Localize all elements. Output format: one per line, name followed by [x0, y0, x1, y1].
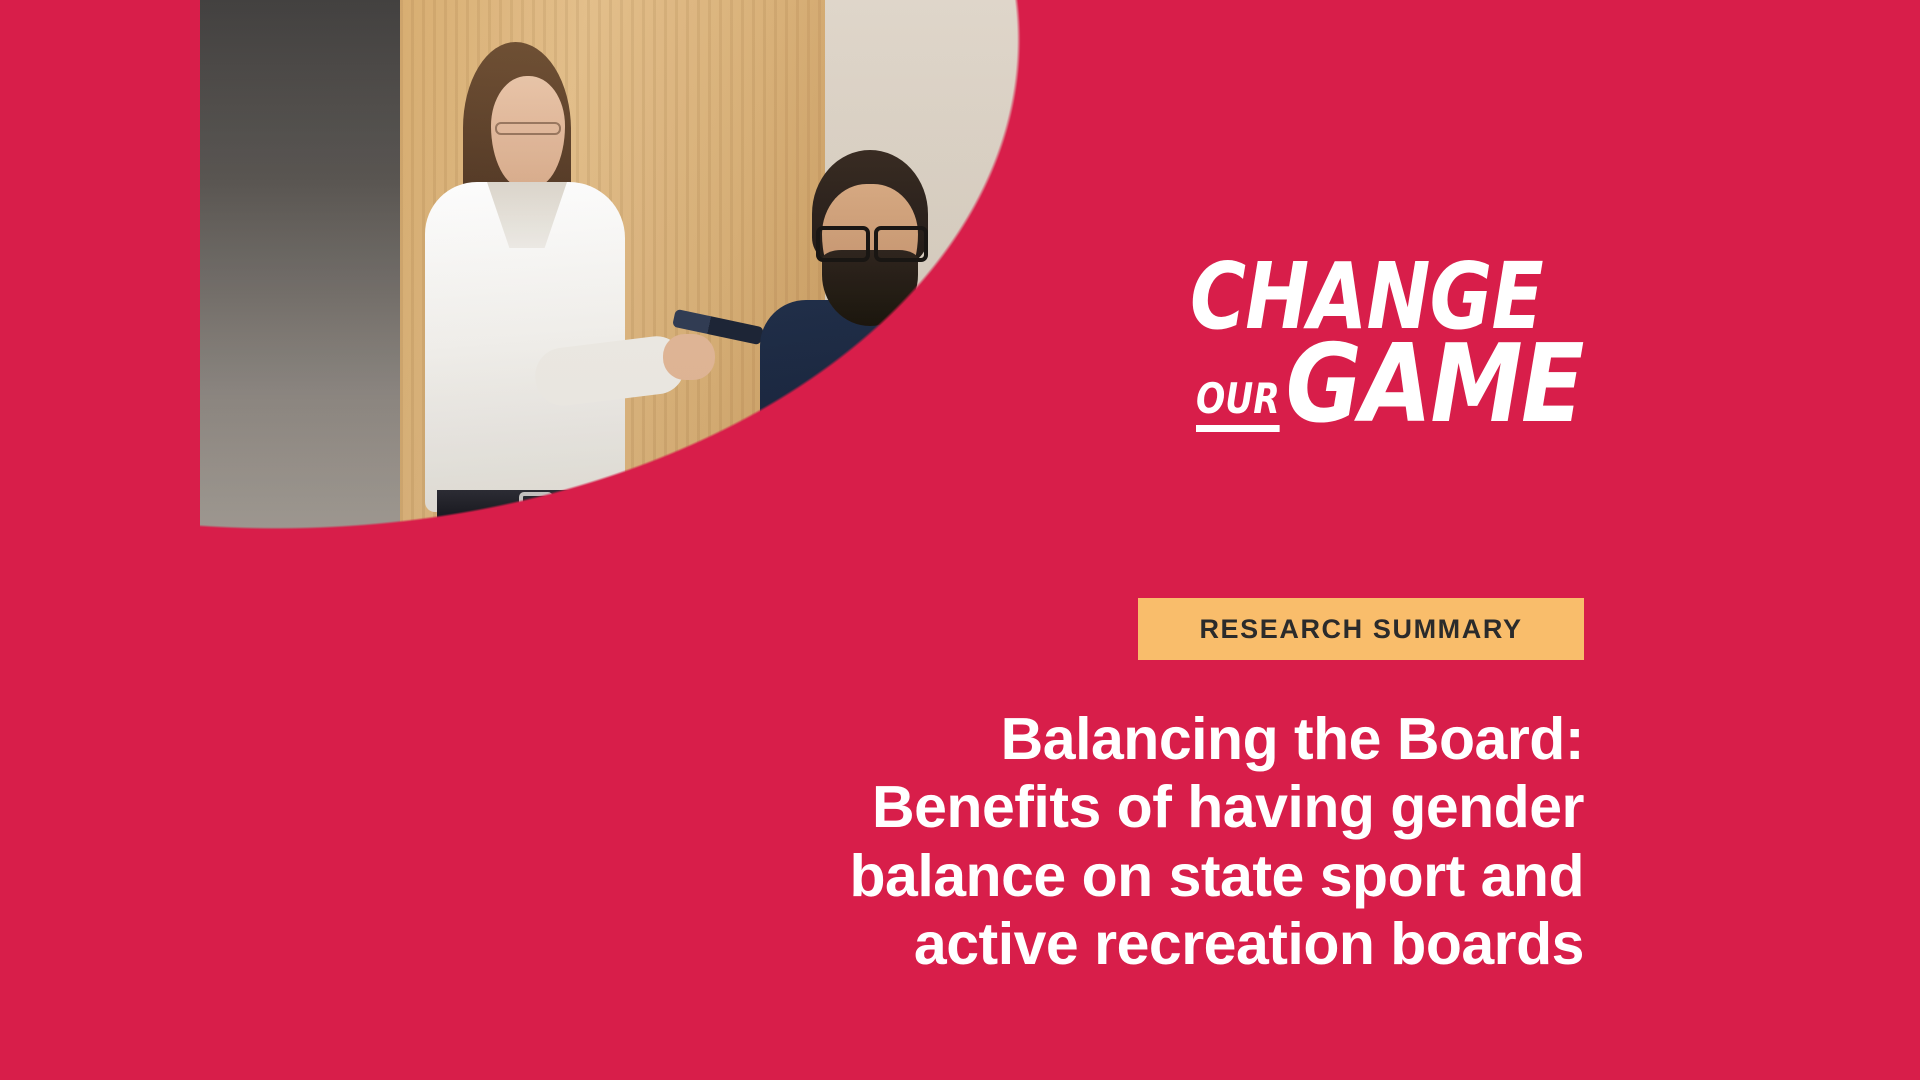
page-title: Balancing the Board: Benefits of having … — [480, 705, 1584, 979]
title-line-3: balance on state sport and — [480, 842, 1584, 910]
title-line-1: Balancing the Board: — [480, 705, 1584, 773]
badge-label: RESEARCH SUMMARY — [1199, 614, 1522, 645]
scene-window-mullion — [1080, 0, 1091, 600]
presenter-hand — [663, 334, 715, 380]
title-line-2: Benefits of having gender — [480, 773, 1584, 841]
water-glass — [760, 500, 806, 566]
woman-face — [1144, 196, 1150, 320]
report-cover: CHANGE OUR GAME RESEARCH SUMMARY Balanci… — [0, 0, 1920, 1080]
glasses-icon — [816, 226, 928, 254]
scene-wall-left — [200, 0, 405, 640]
logo-word-our: OUR — [1196, 378, 1280, 432]
logo-line-our-game: OUR GAME — [1196, 339, 1654, 432]
cover-photo — [200, 0, 1150, 662]
glasses-icon — [495, 122, 561, 135]
laptop-icon — [820, 443, 1020, 627]
research-summary-badge: RESEARCH SUMMARY — [1138, 598, 1584, 660]
photo-image — [200, 0, 1150, 662]
title-line-4: active recreation boards — [480, 910, 1584, 978]
logo-word-game: GAME — [1286, 339, 1583, 432]
change-our-game-logo: CHANGE OUR GAME — [1190, 255, 1610, 485]
